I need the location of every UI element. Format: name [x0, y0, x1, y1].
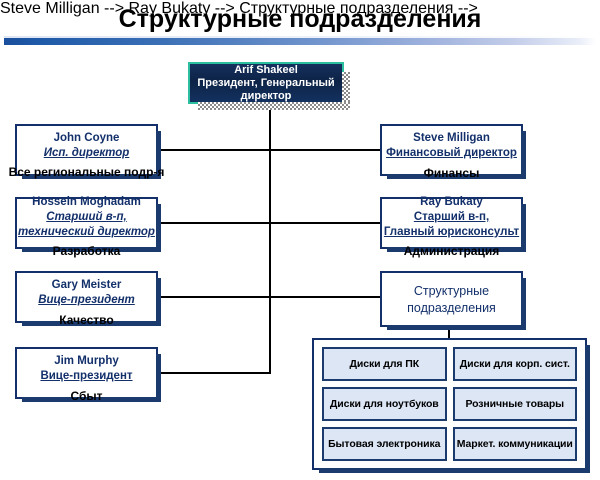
- division-cell-marketing-communications[interactable]: Маркет. коммуникации: [453, 427, 578, 461]
- node-john-coyne-content: John Coyne Исп. директор Все региональны…: [17, 126, 156, 180]
- node-shadow-bottom: [387, 325, 526, 330]
- node-president-content: Arif Shakeel Президент, Генеральный дире…: [190, 64, 342, 102]
- node-shadow-right: [156, 278, 161, 326]
- node-president-name: Arif Shakeel: [234, 64, 298, 77]
- node-steve-milligan[interactable]: Steve Milligan Финансовый директор Финан…: [380, 124, 523, 176]
- node-john-coyne-department: Все региональные подр-я: [8, 164, 165, 180]
- node-jim-murphy[interactable]: Jim Murphy Вице-президент Сбыт: [15, 347, 158, 399]
- node-john-coyne[interactable]: John Coyne Исп. директор Все региональны…: [15, 124, 158, 176]
- node-ray-bukaty-content: Ray Bukaty Старший в-п, Главный юрисконс…: [382, 195, 521, 259]
- node-hossein-moghadam-role-line2: технический директор: [9, 225, 164, 240]
- connector-level-2-horizontal: [158, 222, 388, 224]
- divisions-container-shadow-right: [585, 345, 590, 473]
- node-shadow-right: [521, 278, 526, 330]
- node-steve-milligan-role: Финансовый директор: [376, 146, 527, 161]
- node-divisions-label-line2: подразделения: [382, 300, 521, 317]
- node-hossein-moghadam-department: Разработка: [17, 243, 156, 259]
- division-cell-notebook-drives[interactable]: Диски для ноутбуков: [322, 387, 447, 421]
- divisions-grid: Диски для ПК Диски для корп. сист. Диски…: [322, 347, 577, 461]
- node-divisions[interactable]: Структурные подразделения: [380, 271, 523, 327]
- node-ray-bukaty-name: Ray Bukaty: [382, 195, 521, 210]
- node-shadow-right: [156, 354, 161, 402]
- title-rule: [4, 38, 596, 45]
- node-president[interactable]: Arif Shakeel Президент, Генеральный дире…: [188, 62, 344, 104]
- node-ray-bukaty-department: Администрация: [382, 243, 521, 259]
- node-gary-meister-role: Вице-президент: [17, 293, 156, 308]
- node-ray-bukaty-role-line2: Главный юрисконсульт: [374, 225, 529, 240]
- connector-level-4-horizontal: [158, 372, 271, 374]
- page-title: Структурные подразделения: [0, 2, 600, 36]
- node-jim-murphy-role: Вице-президент: [17, 369, 156, 384]
- node-hossein-moghadam-name: Hossein Moghadam: [11, 195, 162, 210]
- connector-trunk-vertical: [269, 104, 271, 374]
- root-shadow-bottom: [198, 102, 350, 110]
- node-divisions-label-line1: Структурные: [382, 283, 521, 300]
- node-hossein-moghadam-role-line1: Старший в-п,: [17, 210, 156, 225]
- node-steve-milligan-department: Финансы: [382, 165, 521, 181]
- division-cell-consumer-electronics[interactable]: Бытовая электроника: [322, 427, 447, 461]
- divisions-container: Диски для ПК Диски для корп. сист. Диски…: [312, 338, 587, 470]
- division-cell-retail-products[interactable]: Розничные товары: [453, 387, 578, 421]
- node-jim-murphy-name: Jim Murphy: [17, 354, 156, 369]
- slide-canvas: Структурные подразделения Steve Milligan…: [0, 0, 600, 480]
- node-ray-bukaty[interactable]: Ray Bukaty Старший в-п, Главный юрисконс…: [380, 197, 523, 249]
- node-steve-milligan-name: Steve Milligan: [382, 131, 521, 146]
- divisions-container-shadow-bottom: [319, 468, 590, 473]
- node-ray-bukaty-role-line1: Старший в-п,: [382, 210, 521, 225]
- division-cell-enterprise-drives[interactable]: Диски для корп. сист.: [453, 347, 578, 381]
- node-gary-meister-department: Качество: [17, 312, 156, 328]
- node-gary-meister-name: Gary Meister: [17, 278, 156, 293]
- node-hossein-moghadam[interactable]: Hossein Moghadam Старший в-п, технически…: [15, 197, 158, 249]
- node-steve-milligan-content: Steve Milligan Финансовый директор Финан…: [382, 126, 521, 181]
- division-cell-pc-drives[interactable]: Диски для ПК: [322, 347, 447, 381]
- connector-level-1-horizontal: [158, 149, 388, 151]
- node-divisions-content: Структурные подразделения: [382, 273, 521, 317]
- node-jim-murphy-department: Сбыт: [17, 388, 156, 404]
- connector-level-3-horizontal: [158, 296, 388, 298]
- node-john-coyne-role: Исп. директор: [17, 146, 156, 161]
- node-gary-meister[interactable]: Gary Meister Вице-президент Качество: [15, 271, 158, 323]
- node-gary-meister-content: Gary Meister Вице-президент Качество: [17, 273, 156, 328]
- node-jim-murphy-content: Jim Murphy Вице-президент Сбыт: [17, 349, 156, 404]
- node-president-title-line1: Президент, Генеральный: [197, 77, 334, 90]
- node-john-coyne-name: John Coyne: [17, 131, 156, 146]
- node-president-title-line2: директор: [241, 90, 292, 103]
- node-hossein-moghadam-content: Hossein Moghadam Старший в-п, технически…: [17, 195, 156, 259]
